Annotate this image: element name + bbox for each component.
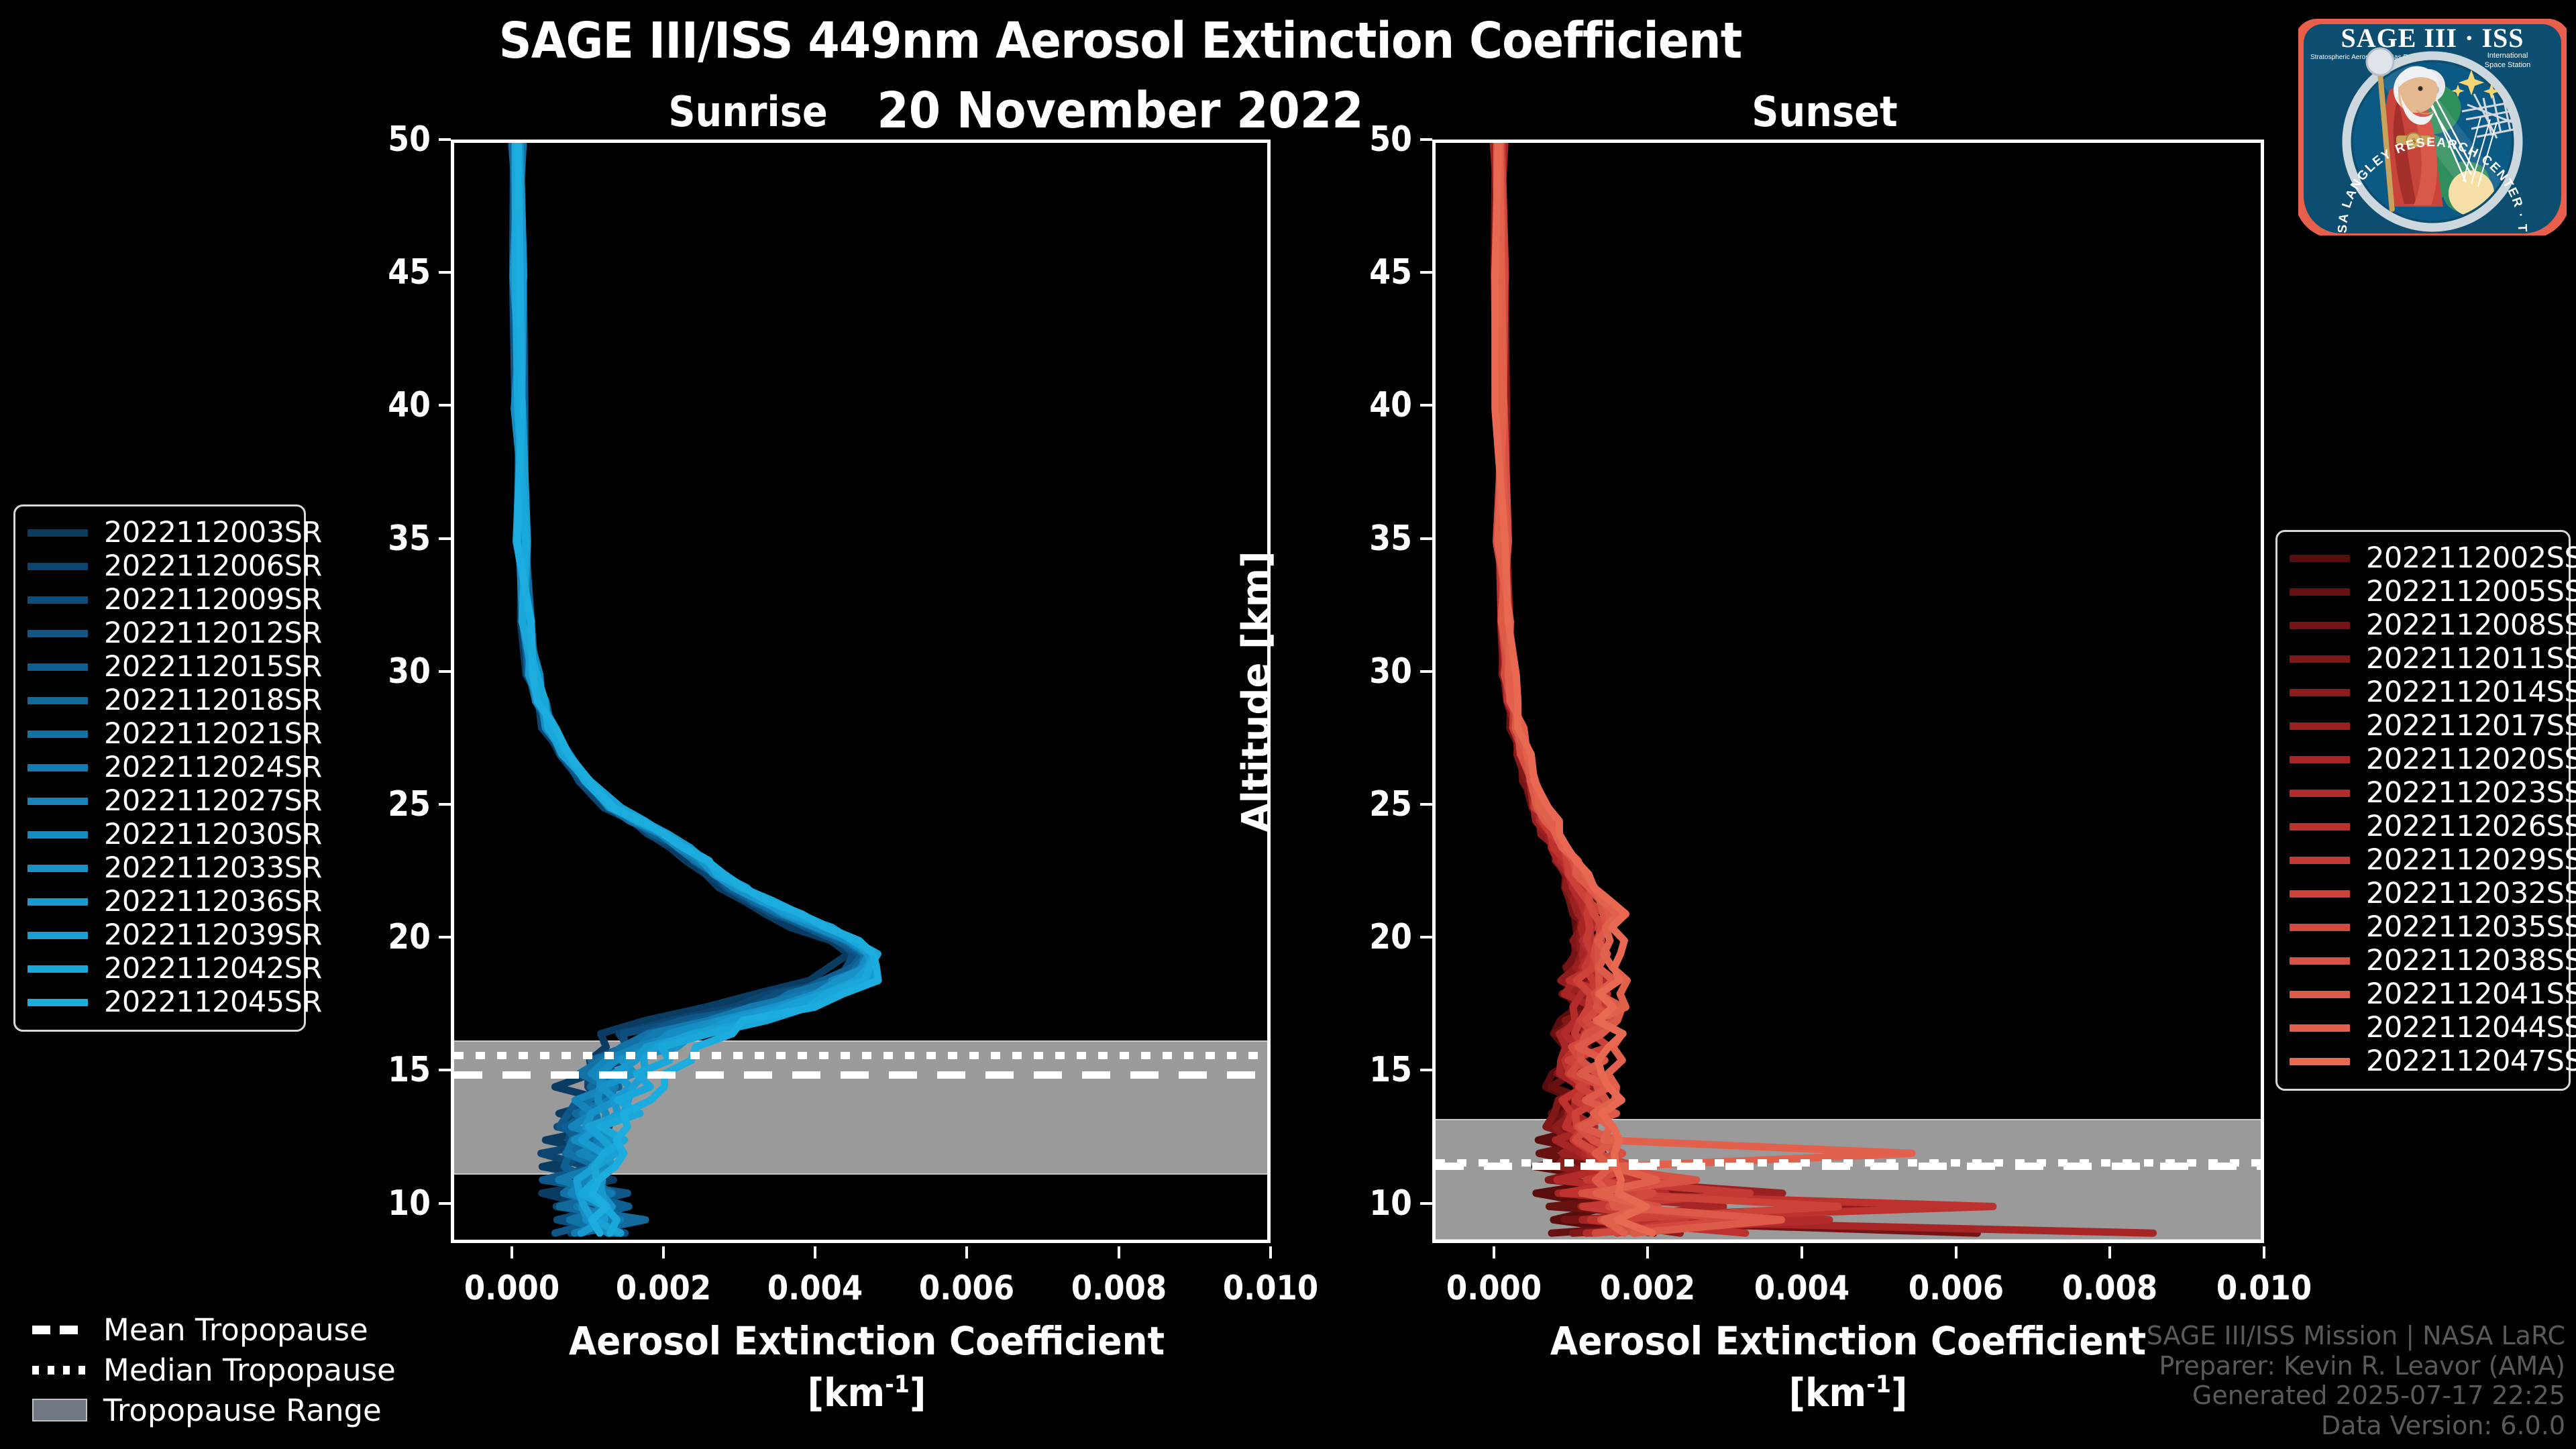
y-tick-mark: [1420, 803, 1432, 806]
legend-item-label: 2022112032SS: [2366, 877, 2576, 910]
legend-item-label: 2022112030SR: [104, 818, 322, 851]
x-tick-mark: [1269, 1246, 1272, 1258]
legend-sunset-item[interactable]: 2022112017SS: [2290, 709, 2557, 743]
legend-item-label: 2022112011SS: [2366, 642, 2576, 676]
legend-color-swatch: [28, 697, 88, 704]
profile-trace: [1493, 143, 1782, 1233]
tropopause-key-item: Median Tropopause: [32, 1350, 448, 1390]
tropopause-key-item: Tropopause Range: [32, 1390, 448, 1430]
legend-item-label: 2022112009SR: [104, 583, 322, 616]
y-tick-mark: [439, 271, 451, 274]
legend-color-swatch: [2290, 890, 2350, 898]
legend-sunset-item[interactable]: 2022112002SS: [2290, 541, 2557, 575]
legend-item-label: 2022112006SR: [104, 549, 322, 583]
legend-item-label: 2022112038SS: [2366, 944, 2576, 977]
legend-sunrise-item[interactable]: 2022112015SR: [28, 650, 292, 684]
legend-sunset-item[interactable]: 2022112008SS: [2290, 608, 2557, 642]
x-tick-label: 0.008: [1049, 1269, 1188, 1307]
profile-trace: [1495, 143, 1838, 1233]
x-axis-unit-sunrise: [km-1]: [484, 1370, 1250, 1415]
unit-close: ]: [1891, 1370, 1907, 1415]
profile-trace: [519, 143, 871, 1233]
unit-base: [km: [1789, 1370, 1866, 1415]
profile-trace: [516, 143, 865, 1233]
legend-sunset-item[interactable]: 2022112044SS: [2290, 1011, 2557, 1044]
x-tick-mark: [2108, 1246, 2111, 1258]
figure-canvas: SAGE III/ISS 449nm Aerosol Extinction Co…: [0, 0, 2576, 1449]
legend-sunset-item[interactable]: 2022112032SS: [2290, 877, 2557, 910]
panel-title-sunrise: Sunrise: [651, 87, 845, 136]
tropopause-key-band-icon: [32, 1399, 87, 1421]
profile-trace: [1497, 143, 1781, 1233]
legend-color-swatch: [2290, 924, 2350, 931]
y-tick-mark: [439, 670, 451, 673]
legend-color-swatch: [2290, 689, 2350, 696]
x-tick-mark: [1646, 1246, 1649, 1258]
profile-trace: [517, 143, 858, 1233]
legend-sunrise-item[interactable]: 2022112027SR: [28, 784, 292, 818]
legend-color-swatch: [2290, 722, 2350, 730]
svg-text:Space Station: Space Station: [2485, 61, 2531, 69]
x-tick-mark: [814, 1246, 816, 1258]
y-tick-label: 15: [348, 1050, 431, 1090]
legend-item-label: 2022112003SR: [104, 516, 322, 549]
y-tick-mark: [1420, 537, 1432, 540]
y-tick-mark: [1420, 271, 1432, 274]
profile-trace: [514, 143, 849, 1233]
legend-item-label: 2022112029SS: [2366, 843, 2576, 877]
legend-sunrise-item[interactable]: 2022112033SR: [28, 851, 292, 885]
y-tick-label: 10: [348, 1183, 431, 1224]
legend-color-swatch: [28, 865, 88, 872]
y-tick-mark: [1420, 138, 1432, 141]
profile-trace: [517, 143, 863, 1233]
y-tick-mark: [439, 1069, 451, 1071]
legend-color-swatch: [2290, 857, 2350, 864]
y-tick-label: 25: [1330, 784, 1412, 824]
x-tick-label: 0.008: [2041, 1269, 2180, 1307]
profile-trace: [517, 143, 878, 1233]
y-tick-mark: [1420, 1202, 1432, 1205]
legend-color-swatch: [2290, 555, 2350, 562]
profile-trace: [513, 143, 873, 1233]
legend-item-label: 2022112027SR: [104, 784, 322, 818]
plot-area-sunset: [1432, 140, 2264, 1243]
svg-text:International: International: [2487, 52, 2528, 60]
legend-sunset-item[interactable]: 2022112038SS: [2290, 944, 2557, 977]
y-tick-label: 35: [348, 519, 431, 559]
legend-item-label: 2022112044SS: [2366, 1011, 2576, 1044]
credit-line-generated: Generated 2025-07-17 22:25: [2147, 1381, 2565, 1411]
profile-trace: [515, 143, 853, 1233]
legend-color-swatch: [28, 898, 88, 906]
legend-color-swatch: [28, 965, 88, 973]
legend-sunset-events[interactable]: 2022112002SS2022112005SS2022112008SS2022…: [2275, 530, 2571, 1091]
y-tick-label: 30: [1330, 651, 1412, 692]
x-tick-mark: [1801, 1246, 1803, 1258]
legend-sunrise-item[interactable]: 2022112018SR: [28, 684, 292, 717]
profile-trace: [517, 143, 873, 1233]
legend-sunset-item[interactable]: 2022112020SS: [2290, 743, 2557, 776]
y-tick-label: 10: [1330, 1183, 1412, 1224]
legend-color-swatch: [28, 764, 88, 771]
y-tick-label: 50: [348, 119, 431, 160]
legend-item-label: 2022112023SS: [2366, 776, 2576, 810]
y-tick-mark: [1420, 1069, 1432, 1071]
x-tick-label: 0.010: [1201, 1269, 1340, 1307]
credit-line-version: Data Version: 6.0.0: [2147, 1411, 2565, 1441]
legend-sunset-item[interactable]: 2022112047SS: [2290, 1044, 2557, 1078]
svg-text:SAGE III · ISS: SAGE III · ISS: [2341, 23, 2524, 53]
legend-color-swatch: [28, 999, 88, 1006]
legend-item-label: 2022112008SS: [2366, 608, 2576, 642]
y-tick-label: 15: [1330, 1050, 1412, 1090]
x-tick-label: 0.000: [442, 1269, 581, 1307]
x-tick-mark: [511, 1246, 513, 1258]
unit-close: ]: [910, 1370, 926, 1415]
x-tick-label: 0.006: [898, 1269, 1036, 1307]
profile-trace: [517, 143, 873, 1233]
legend-sunrise-item[interactable]: 2022112045SR: [28, 985, 292, 1019]
profile-trace: [1497, 143, 1741, 1233]
profile-trace: [515, 143, 869, 1233]
profile-traces: [1436, 143, 2264, 1243]
legend-sunset-item[interactable]: 2022112005SS: [2290, 575, 2557, 608]
legend-color-swatch: [2290, 1058, 2350, 1065]
x-tick-mark: [1493, 1246, 1495, 1258]
x-axis-label-sunrise: Aerosol Extinction Coefficient: [484, 1318, 1250, 1364]
legend-item-label: 2022112033SR: [104, 851, 322, 885]
x-tick-label: 0.004: [746, 1269, 885, 1307]
legend-item-label: 2022112015SR: [104, 650, 322, 684]
tropopause-key-item: Mean Tropopause: [32, 1309, 448, 1350]
legend-color-swatch: [28, 596, 88, 604]
y-tick-mark: [439, 1202, 451, 1205]
legend-color-swatch: [2290, 622, 2350, 629]
y-tick-label: 50: [1330, 119, 1412, 160]
y-tick-label: 20: [1330, 917, 1412, 957]
mean-tropopause-line: [454, 1071, 1267, 1079]
x-tick-label: 0.006: [1886, 1269, 2025, 1307]
y-tick-label: 40: [348, 385, 431, 425]
profile-trace: [516, 143, 868, 1233]
y-tick-mark: [439, 404, 451, 407]
legend-sunset-item[interactable]: 2022112041SS: [2290, 977, 2557, 1011]
legend-item-label: 2022112047SS: [2366, 1044, 2576, 1078]
credit-line-mission: SAGE III/ISS Mission | NASA LaRC: [2147, 1321, 2565, 1351]
legend-item-label: 2022112020SS: [2366, 743, 2576, 776]
median-tropopause-line: [454, 1052, 1267, 1059]
legend-item-label: 2022112035SS: [2366, 910, 2576, 944]
legend-color-swatch: [2290, 588, 2350, 596]
legend-item-label: 2022112042SR: [104, 952, 322, 985]
y-tick-label: 35: [1330, 519, 1412, 559]
legend-sunrise-item[interactable]: 2022112012SR: [28, 616, 292, 650]
legend-item-label: 2022112021SR: [104, 717, 322, 751]
x-tick-mark: [662, 1246, 665, 1258]
legend-color-swatch: [2290, 991, 2350, 998]
legend-color-swatch: [2290, 756, 2350, 763]
tropopause-key-label: Tropopause Range: [103, 1393, 382, 1428]
y-tick-label: 30: [348, 651, 431, 692]
x-tick-mark: [965, 1246, 968, 1258]
legend-item-label: 2022112039SR: [104, 918, 322, 952]
unit-exponent: -1: [885, 1371, 910, 1399]
plot-area-sunrise: [451, 140, 1271, 1243]
profile-trace: [1496, 143, 1750, 1233]
legend-color-swatch: [28, 932, 88, 939]
profile-trace: [515, 143, 877, 1233]
legend-sunrise-item[interactable]: 2022112039SR: [28, 918, 292, 952]
legend-item-label: 2022112026SS: [2366, 810, 2576, 843]
legend-color-swatch: [2290, 823, 2350, 830]
legend-color-swatch: [2290, 655, 2350, 663]
legend-sunset-item[interactable]: 2022112029SS: [2290, 843, 2557, 877]
x-tick-label: 0.000: [1424, 1269, 1563, 1307]
legend-color-swatch: [28, 831, 88, 839]
legend-item-label: 2022112012SR: [104, 616, 322, 650]
legend-sunset-item[interactable]: 2022112014SS: [2290, 676, 2557, 709]
sage-iii-iss-mission-patch-icon: SAGE III · ISS Stratospheric Aerosol and…: [2298, 4, 2567, 235]
unit-base: [km: [808, 1370, 885, 1415]
y-tick-mark: [1420, 670, 1432, 673]
legend-item-label: 2022112005SS: [2366, 575, 2576, 608]
profile-trace: [1494, 143, 1795, 1233]
legend-item-label: 2022112041SS: [2366, 977, 2576, 1011]
legend-item-label: 2022112036SR: [104, 885, 322, 918]
y-tick-label: 40: [1330, 385, 1412, 425]
page-title: SAGE III/ISS 449nm Aerosol Extinction Co…: [90, 12, 2151, 70]
legend-sunrise-item[interactable]: 2022112009SR: [28, 583, 292, 616]
legend-item-label: 2022112024SR: [104, 751, 322, 784]
y-tick-mark: [1420, 936, 1432, 938]
legend-color-swatch: [2290, 1024, 2350, 1032]
x-axis-unit-sunset: [km-1]: [1466, 1370, 2231, 1415]
legend-color-swatch: [2290, 957, 2350, 965]
legend-color-swatch: [28, 563, 88, 570]
x-tick-label: 0.010: [2195, 1269, 2334, 1307]
y-tick-label: 45: [1330, 252, 1412, 292]
legend-item-label: 2022112018SR: [104, 684, 322, 717]
y-tick-mark: [439, 936, 451, 938]
legend-color-swatch: [28, 663, 88, 671]
legend-tropopause-key: Mean TropopauseMedian TropopauseTropopau…: [32, 1309, 448, 1430]
credits-block: SAGE III/ISS Mission | NASA LaRC Prepare…: [2147, 1321, 2565, 1441]
legend-sunrise-item[interactable]: 2022112030SR: [28, 818, 292, 851]
y-tick-mark: [1420, 404, 1432, 407]
tropopause-key-label: Median Tropopause: [103, 1352, 396, 1388]
tropopause-key-label: Mean Tropopause: [103, 1312, 368, 1348]
tropopause-key-dashed-icon: [32, 1326, 87, 1334]
unit-exponent: -1: [1866, 1371, 1891, 1399]
legend-sunrise-events[interactable]: 2022112003SR2022112006SR2022112009SR2022…: [13, 504, 306, 1032]
mean-tropopause-line: [1436, 1163, 2261, 1170]
profile-trace: [1497, 143, 1829, 1233]
y-axis-label-sunset: Altitude [km]: [1234, 551, 1278, 832]
legend-item-label: 2022112014SS: [2366, 676, 2576, 709]
x-tick-label: 0.002: [594, 1269, 733, 1307]
legend-sunrise-item[interactable]: 2022112042SR: [28, 952, 292, 985]
legend-sunset-item[interactable]: 2022112035SS: [2290, 910, 2557, 944]
legend-item-label: 2022112017SS: [2366, 709, 2576, 743]
y-tick-mark: [439, 537, 451, 540]
legend-color-swatch: [28, 529, 88, 537]
legend-sunrise-item[interactable]: 2022112021SR: [28, 717, 292, 751]
legend-color-swatch: [2290, 790, 2350, 797]
credit-line-preparer: Preparer: Kevin R. Leavor (AMA): [2147, 1351, 2565, 1381]
profile-trace: [513, 143, 859, 1233]
legend-sunset-item[interactable]: 2022112026SS: [2290, 810, 2557, 843]
legend-sunrise-item[interactable]: 2022112024SR: [28, 751, 292, 784]
y-tick-mark: [439, 138, 451, 141]
legend-sunset-item[interactable]: 2022112023SS: [2290, 776, 2557, 810]
legend-color-swatch: [28, 798, 88, 805]
legend-color-swatch: [28, 630, 88, 637]
y-tick-label: 45: [348, 252, 431, 292]
y-tick-mark: [439, 803, 451, 806]
x-tick-mark: [1118, 1246, 1120, 1258]
profile-trace: [1499, 143, 1739, 1233]
x-tick-label: 0.002: [1578, 1269, 1717, 1307]
x-tick-mark: [1955, 1246, 1957, 1258]
legend-color-swatch: [28, 731, 88, 738]
x-tick-mark: [2263, 1246, 2265, 1258]
profile-trace: [512, 143, 869, 1233]
x-axis-label-sunset: Aerosol Extinction Coefficient: [1466, 1318, 2231, 1364]
legend-sunrise-item[interactable]: 2022112036SR: [28, 885, 292, 918]
legend-sunset-item[interactable]: 2022112011SS: [2290, 642, 2557, 676]
legend-item-label: 2022112002SS: [2366, 541, 2576, 575]
y-tick-label: 25: [348, 784, 431, 824]
panel-title-sunset: Sunset: [1728, 87, 1921, 136]
y-tick-label: 20: [348, 917, 431, 957]
legend-item-label: 2022112045SR: [104, 985, 322, 1019]
x-tick-label: 0.004: [1733, 1269, 1872, 1307]
tropopause-key-dotted-icon: [32, 1366, 87, 1375]
legend-sunrise-item[interactable]: 2022112003SR: [28, 516, 292, 549]
legend-sunrise-item[interactable]: 2022112006SR: [28, 549, 292, 583]
